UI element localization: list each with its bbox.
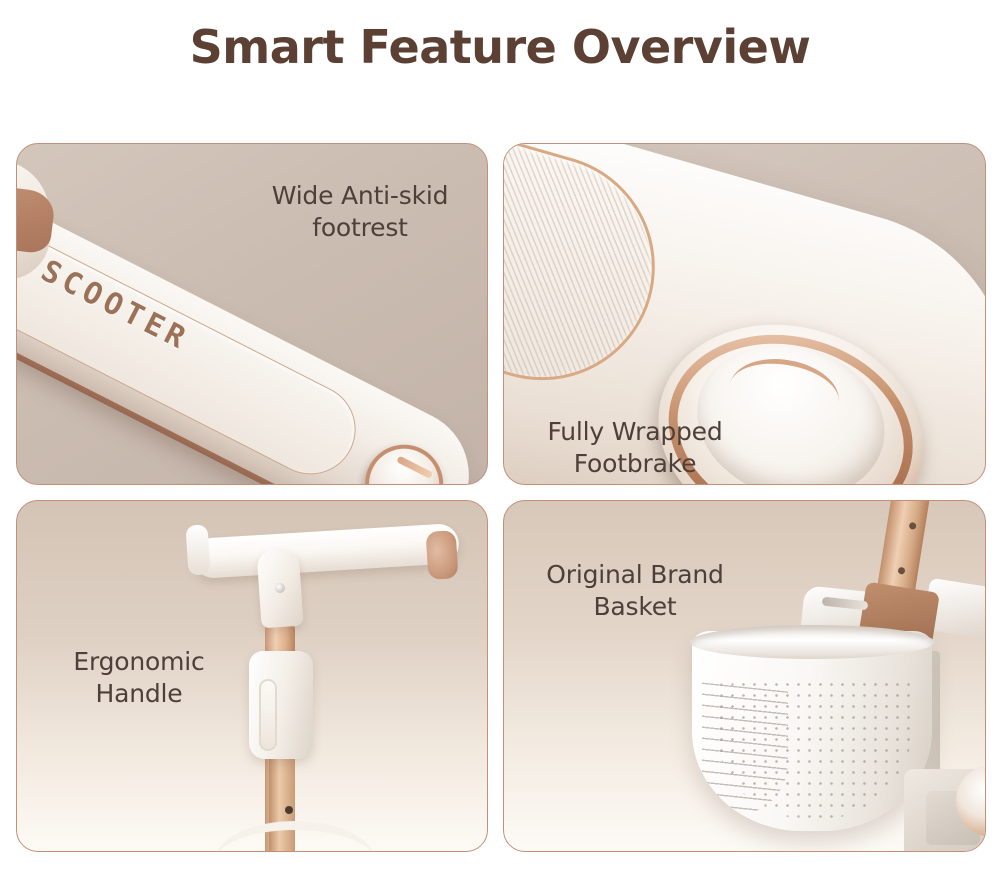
handlebar-left-grip-cap — [185, 524, 210, 575]
handlebar-crossbar — [192, 523, 460, 579]
panel-caption-handle: Ergonomic Handle — [39, 646, 239, 710]
collar-clamp-lever — [259, 679, 277, 751]
post-hole-upper — [909, 522, 917, 530]
footbrake-textured-pad — [503, 143, 682, 407]
basket-rim — [690, 625, 934, 659]
post-hole-lower — [898, 567, 906, 575]
stem-height-hole — [285, 806, 293, 814]
page-title: Smart Feature Overview — [0, 20, 1000, 74]
panel-caption-footrest: Wide Anti-skid footrest — [245, 180, 475, 244]
panel-caption-footbrake: Fully Wrapped Footbrake — [520, 416, 750, 480]
feature-panel-grid: SCOOTER Wide Anti-skid footrest SCO — [16, 143, 986, 853]
panel-caption-basket: Original Brand Basket — [530, 559, 740, 623]
tee-joint-screw — [275, 583, 285, 593]
basket-body — [692, 631, 932, 831]
feature-overview-page: Smart Feature Overview SCOOTER Wide Anti… — [0, 0, 1000, 872]
handlebar-right-grip-cap — [426, 530, 459, 580]
feature-panel-fully-wrapped-footbrake[interactable]: SCO Fully Wrapped Footbrake — [503, 143, 986, 485]
handlebar-base-curve — [215, 821, 375, 852]
feature-panel-original-brand-basket[interactable]: Original Brand Basket — [503, 500, 986, 852]
deck-brake-knob — [352, 431, 457, 485]
feature-panel-ergonomic-handle[interactable]: Ergonomic Handle — [16, 500, 488, 852]
feature-panel-wide-anti-skid-footrest[interactable]: SCOOTER Wide Anti-skid footrest — [16, 143, 488, 485]
